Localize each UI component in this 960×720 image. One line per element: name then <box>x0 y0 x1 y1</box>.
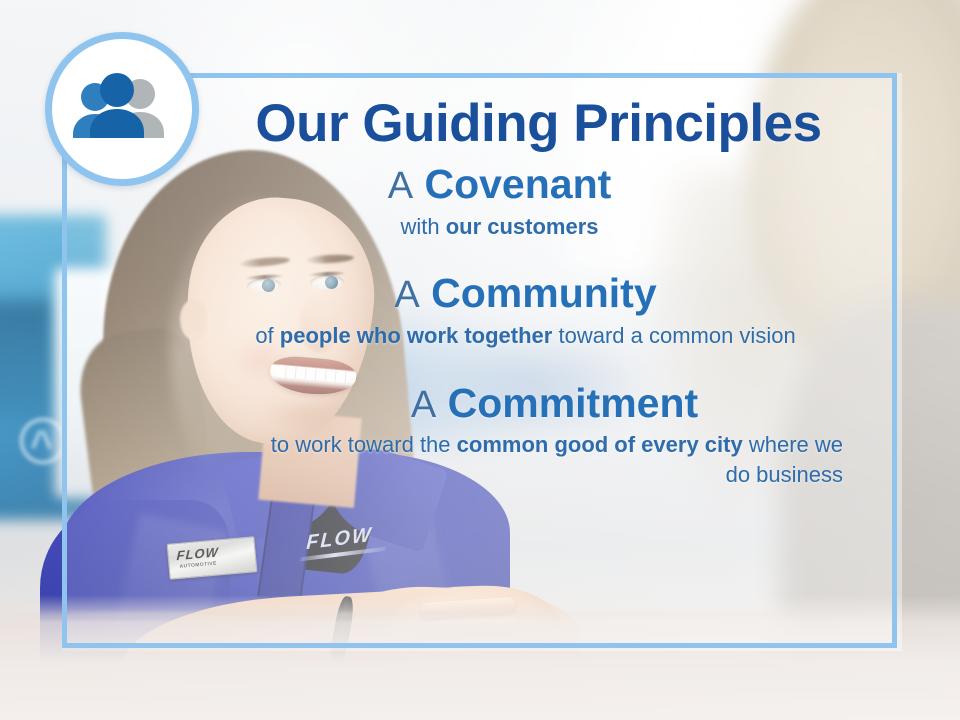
principle-noun: Community <box>431 270 657 316</box>
principle-title-community: A Community <box>194 271 857 317</box>
principle-body-commitment: to work toward the common good of every … <box>252 430 857 489</box>
principle-title-covenant: A Covenant <box>142 162 857 208</box>
guiding-principles-poster: FLOW FLOW AUTOMOTIVE <box>0 0 960 720</box>
principle-covenant: A Covenant with our customers <box>102 162 857 241</box>
body-plain-segment: of <box>255 323 279 348</box>
body-plain-segment: where we do business <box>726 432 843 486</box>
principle-article: A <box>394 274 419 316</box>
principle-commitment: A Commitment to work toward the common g… <box>102 381 857 489</box>
principle-noun: Covenant <box>424 161 611 207</box>
principle-body-community: of people who work together toward a com… <box>194 321 857 350</box>
principle-noun: Commitment <box>448 380 699 426</box>
body-bold-segment: people who work together <box>280 323 553 348</box>
body-bold-segment: our customers <box>446 214 599 239</box>
poster-text-content: Our Guiding Principles A Covenant with o… <box>62 73 897 648</box>
body-plain-segment: toward a common vision <box>552 323 795 348</box>
body-bold-segment: common good of every city <box>457 432 743 457</box>
principle-title-commitment: A Commitment <box>252 381 857 427</box>
principle-community: A Community of people who work together … <box>102 271 857 350</box>
principle-article: A <box>388 165 413 207</box>
body-plain-segment: to work toward the <box>271 432 457 457</box>
principle-article: A <box>411 384 436 426</box>
principle-body-covenant: with our customers <box>142 212 857 241</box>
page-title: Our Guiding Principles <box>102 95 857 152</box>
body-plain-segment: with <box>400 214 445 239</box>
